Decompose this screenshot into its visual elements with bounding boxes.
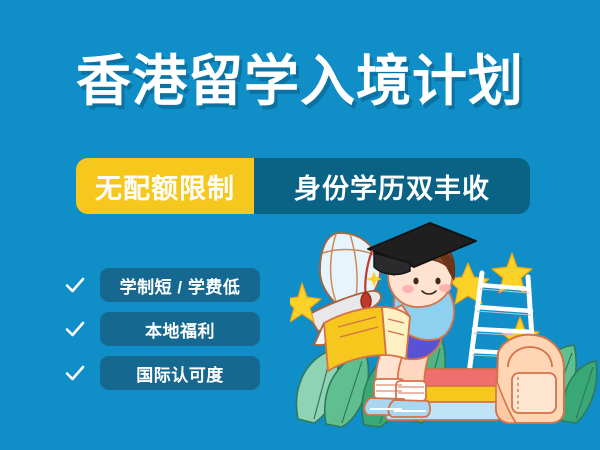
airplane-icon: [300, 291, 381, 345]
ladder-icon: [466, 273, 536, 399]
graduation-cap-icon: [361, 223, 476, 309]
star-icon: [290, 253, 539, 355]
list-item: 本地福利: [62, 312, 260, 346]
promo-banner: 香港留学入境计划 无配额限制 身份学历双丰收 学制短 / 学费低 本地福利 国际…: [0, 0, 600, 450]
feature-pill-2: 国际认可度: [100, 356, 260, 390]
subtitle-bar: 无配额限制 身份学历双丰收: [76, 158, 530, 214]
list-item: 国际认可度: [62, 356, 260, 390]
open-book-icon: [324, 307, 410, 371]
check-icon: [62, 360, 88, 386]
check-icon: [62, 272, 88, 298]
sparkle-icon: [366, 247, 505, 389]
check-icon: [62, 316, 88, 342]
feature-pill-1: 本地福利: [100, 312, 260, 346]
hot-air-balloon-icon: [320, 233, 380, 343]
backpack-icon: [496, 335, 564, 423]
book-stack-icon: [382, 369, 502, 420]
leaf-icon: [297, 339, 597, 427]
list-item: 学制短 / 学费低: [62, 268, 260, 302]
page-title: 香港留学入境计划: [0, 50, 600, 112]
subtitle-highlight-badge: 无配额限制: [76, 158, 254, 214]
student-reading-illustration: [290, 219, 600, 434]
feature-list: 学制短 / 学费低 本地福利 国际认可度: [62, 268, 260, 400]
student-figure: [324, 223, 476, 417]
subtitle-secondary-label: 身份学历双丰收: [254, 158, 530, 214]
feature-pill-0: 学制短 / 学费低: [100, 268, 260, 302]
